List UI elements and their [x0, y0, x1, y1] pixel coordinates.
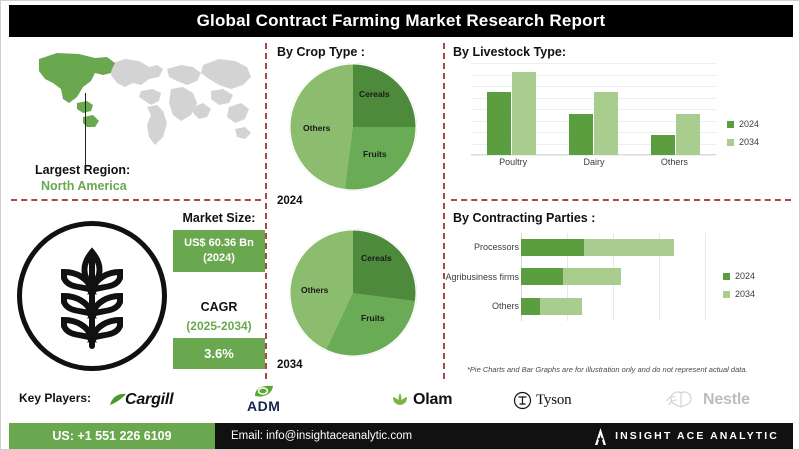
livestock-legend: 20242034 — [727, 119, 759, 155]
section-title-livestock: By Livestock Type: — [453, 45, 566, 59]
pie-2034-label-fruits: Fruits — [361, 313, 385, 323]
bar-2024 — [651, 135, 675, 155]
livestock-category-labels: PoultryDairyOthers — [471, 157, 716, 167]
metrics-column: Market Size: US$ 60.36 Bn (2024) CAGR (2… — [173, 211, 265, 369]
bar-2034 — [512, 72, 536, 155]
category-label: Others — [441, 301, 519, 311]
logo-olam-text: Olam — [413, 391, 452, 409]
divider-horizontal-right — [451, 199, 791, 201]
cagr-label: CAGR — [173, 300, 265, 314]
category-label: Poultry — [499, 157, 527, 167]
largest-region-label: Largest Region: — [35, 163, 130, 177]
bar-row — [521, 268, 706, 285]
market-size-value: US$ 60.36 Bn — [175, 236, 263, 251]
livestock-bar-chart — [471, 63, 716, 155]
bar-segment-2024 — [521, 268, 563, 285]
brand-lockup: INSIGHT ACE ANALYTIC — [594, 423, 779, 449]
cagr-period: (2025-2034) — [173, 319, 265, 333]
wheat-stalk-icon — [17, 221, 167, 371]
legend-item: 2034 — [723, 289, 755, 299]
insight-ace-logo-icon — [594, 428, 607, 445]
bar-group — [487, 72, 536, 155]
bar-segment-2034 — [540, 298, 582, 315]
category-label: Dairy — [583, 157, 604, 167]
footer-bar: US: +1 551 226 6109 Email: info@insighta… — [9, 423, 793, 449]
divider-horizontal-left — [11, 199, 261, 201]
bar-2034 — [676, 114, 700, 155]
bar-row — [521, 239, 706, 256]
pie-2034-year: 2034 — [277, 359, 303, 371]
key-players-row: Key Players: Cargill ADM Olam — [1, 381, 800, 419]
divider-vertical-right — [443, 43, 445, 379]
map-leader-line — [85, 93, 86, 165]
bar-2024 — [569, 114, 593, 155]
logo-cargill-text: Cargill — [125, 391, 173, 409]
brand-name: INSIGHT ACE ANALYTIC — [615, 430, 779, 442]
pie-2024-year: 2024 — [277, 195, 303, 207]
cagr-badge: 3.6% — [173, 338, 265, 370]
logo-tyson-text: Tyson — [536, 392, 571, 409]
bar-group — [569, 92, 618, 155]
key-players-label: Key Players: — [19, 391, 91, 405]
logo-adm-text: ADM — [247, 398, 280, 414]
pie-2024-label-cereals: Cereals — [359, 89, 390, 99]
largest-region-value: North America — [41, 179, 127, 193]
legend-label: 2024 — [739, 119, 759, 129]
legend-swatch — [727, 121, 734, 128]
bar-segment-2024 — [521, 298, 540, 315]
bar-groups — [471, 63, 716, 155]
category-label: Agribusiness firms — [441, 272, 519, 282]
legend-swatch — [723, 291, 730, 298]
section-title-crop-type: By Crop Type : — [277, 45, 365, 59]
market-size-year: (2024) — [175, 251, 263, 266]
world-map-icon — [21, 45, 261, 150]
legend-swatch — [727, 139, 734, 146]
bar-2034 — [594, 92, 618, 155]
legend-swatch — [723, 273, 730, 280]
logo-adm[interactable]: ADM — [247, 385, 280, 415]
legend-label: 2024 — [735, 271, 755, 281]
bar-group — [651, 114, 700, 155]
legend-label: 2034 — [735, 289, 755, 299]
divider-vertical-left — [265, 43, 267, 379]
bar-row — [521, 298, 706, 315]
bar-segment-2024 — [521, 239, 584, 256]
logo-cargill[interactable]: Cargill — [109, 385, 173, 415]
logo-olam[interactable]: Olam — [390, 385, 452, 415]
logo-nestle-text: Nestle — [703, 391, 750, 409]
market-size-label: Market Size: — [173, 211, 265, 225]
largest-region-block: Largest Region: North America — [13, 45, 263, 195]
section-title-contracting: By Contracting Parties : — [453, 211, 595, 225]
footer-email[interactable]: Email: info@insightaceanalytic.com — [231, 423, 412, 449]
page-title: Global Contract Farming Market Research … — [197, 11, 606, 31]
contracting-legend: 20242034 — [723, 271, 755, 307]
logo-tyson[interactable]: Tyson — [513, 385, 571, 415]
contracting-category-labels: ProcessorsAgribusiness firmsOthers — [441, 233, 519, 321]
bar-segment-2034 — [563, 268, 621, 285]
pie-2034-label-others: Others — [301, 285, 328, 295]
legend-item: 2024 — [723, 271, 755, 281]
category-label: Processors — [441, 242, 519, 252]
bar-segment-2034 — [584, 239, 674, 256]
legend-item: 2034 — [727, 137, 759, 147]
bar-rows — [521, 233, 706, 321]
market-size-badge: US$ 60.36 Bn (2024) — [173, 230, 265, 272]
chart-footnote: *Pie Charts and Bar Graphs are for illus… — [467, 365, 748, 374]
contracting-bar-chart — [521, 233, 706, 321]
pie-2034-label-cereals: Cereals — [361, 253, 392, 263]
pie-2024-label-others: Others — [303, 123, 330, 133]
bar-2024 — [487, 92, 511, 155]
category-label: Others — [661, 157, 688, 167]
metrics-spacer — [173, 272, 265, 300]
pie-2024-label-fruits: Fruits — [363, 149, 387, 159]
legend-label: 2034 — [739, 137, 759, 147]
logo-nestle[interactable]: Nestle — [665, 385, 750, 415]
header-bar: Global Contract Farming Market Research … — [9, 5, 793, 37]
infographic-poster: Global Contract Farming Market Research … — [0, 0, 800, 450]
legend-item: 2024 — [727, 119, 759, 129]
footer-phone[interactable]: US: +1 551 226 6109 — [9, 423, 215, 449]
